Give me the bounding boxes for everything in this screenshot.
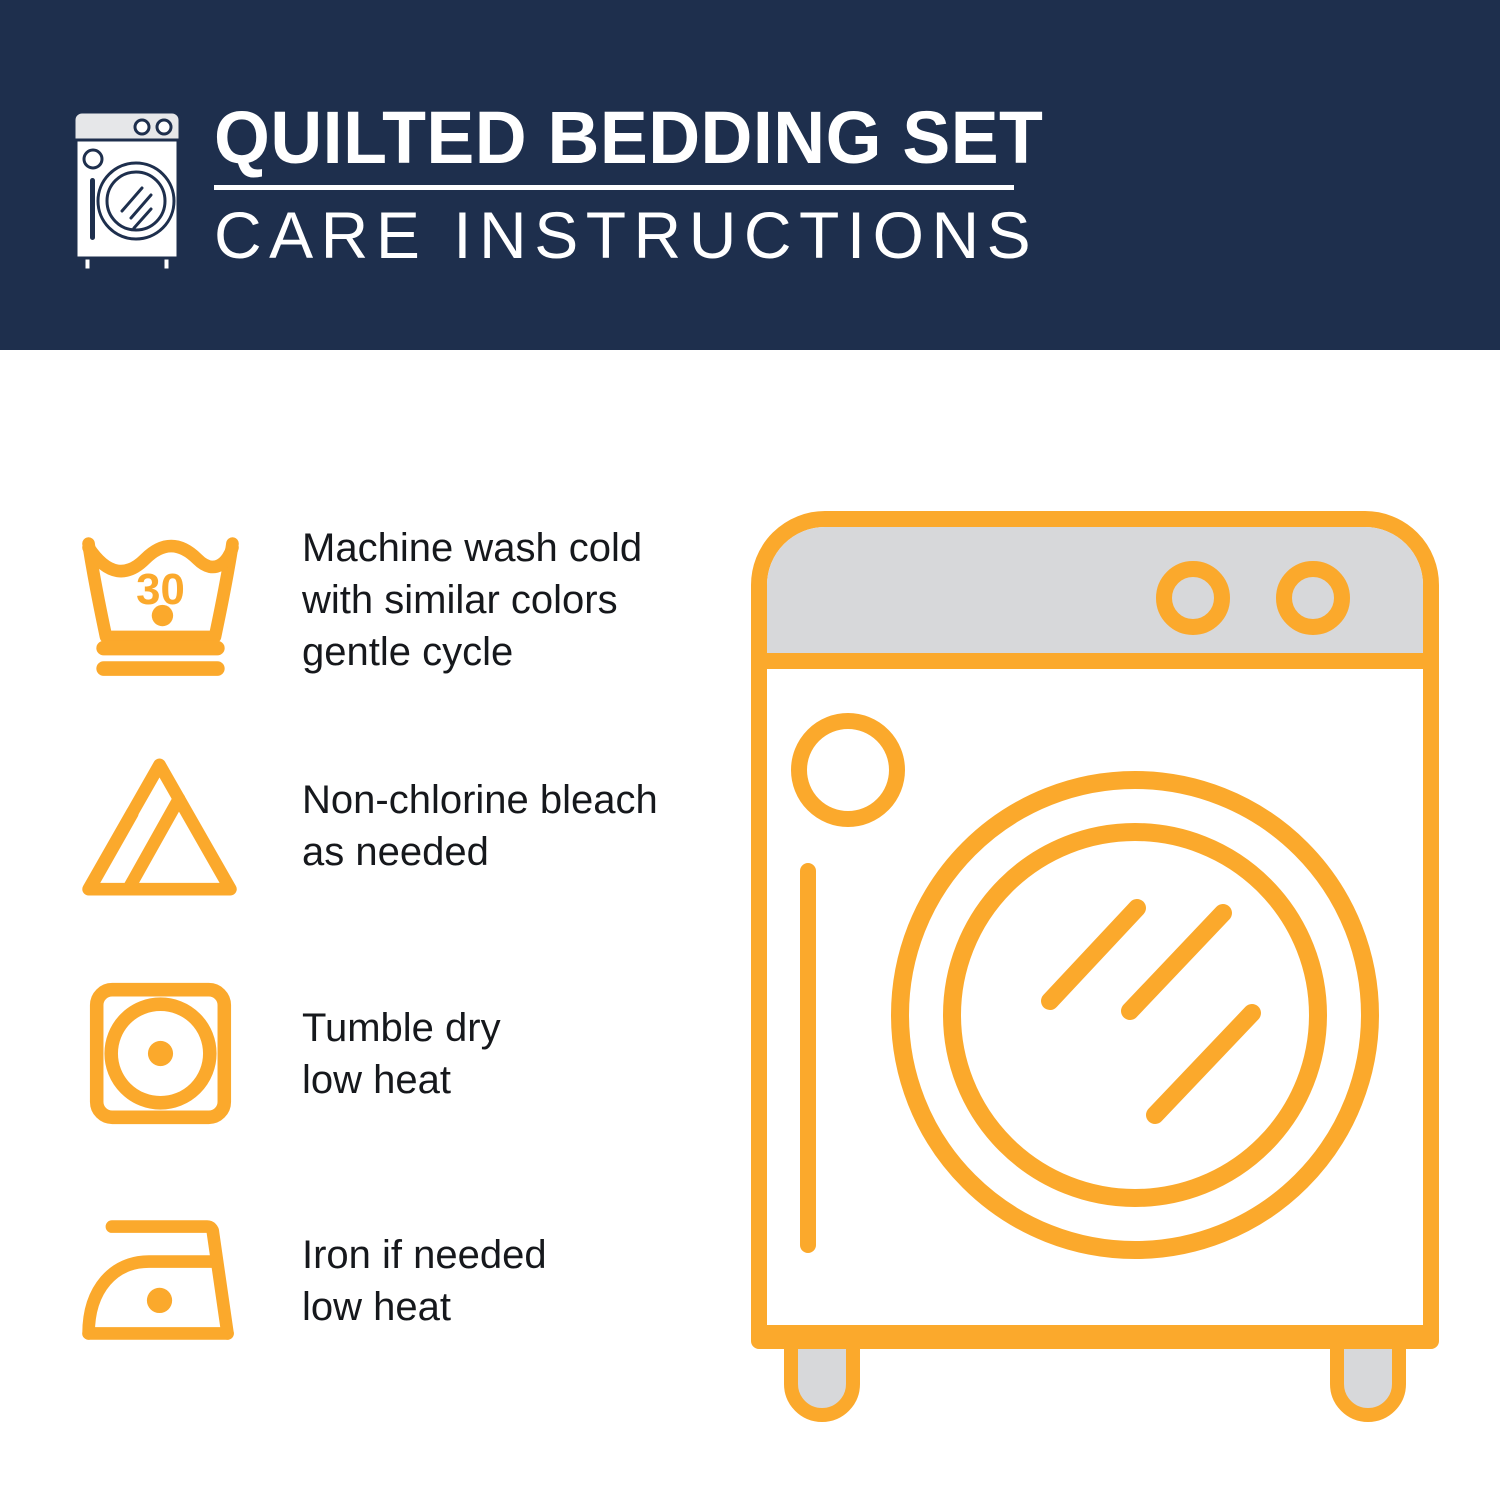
care-instructions-list: 30 Machine wash cold with similar colors… [70,505,720,1363]
page-subtitle: CARE INSTRUCTIONS [214,200,1024,270]
title-block: QUILTED BEDDING SET CARE INSTRUCTIONS [214,100,1024,270]
wash-tub-30-gentle-icon: 30 [70,515,250,685]
care-line: Tumble dry [302,1002,720,1054]
care-item-wash-text: Machine wash cold with similar colors ge… [250,522,720,678]
tumble-dry-low-icon [70,969,250,1139]
care-item-iron: Iron if needed low heat [70,1198,720,1363]
care-item-wash: 30 Machine wash cold with similar colors… [70,505,720,695]
care-item-bleach-text: Non-chlorine bleach as needed [250,774,720,878]
iron-low-heat-icon [70,1196,250,1366]
machine-indicator-bar [800,863,816,1253]
front-load-washing-machine-illustration [735,495,1455,1425]
care-line: low heat [302,1054,720,1106]
care-line: gentle cycle [302,626,720,678]
care-line: low heat [302,1281,720,1333]
care-line: Machine wash cold [302,522,720,574]
care-line: with similar colors [302,574,720,626]
care-item-tumble-dry-text: Tumble dry low heat [250,1002,720,1106]
care-line: Non-chlorine bleach [302,774,720,826]
care-item-bleach: Non-chlorine bleach as needed [70,741,720,911]
care-item-iron-text: Iron if needed low heat [250,1229,720,1333]
care-line: Iron if needed [302,1229,720,1281]
title-divider [214,185,1014,190]
care-line: as needed [302,826,720,878]
washing-machine-icon [62,106,192,271]
machine-control-panel [767,527,1423,653]
page-title: QUILTED BEDDING SET [214,100,1000,176]
care-item-tumble-dry: Tumble dry low heat [70,971,720,1136]
header-content: QUILTED BEDDING SET CARE INSTRUCTIONS [62,100,1024,271]
header-banner: QUILTED BEDDING SET CARE INSTRUCTIONS [0,0,1500,350]
non-chlorine-bleach-triangle-icon [70,741,250,911]
care-instructions-infographic: QUILTED BEDDING SET CARE INSTRUCTIONS [0,0,1500,1500]
